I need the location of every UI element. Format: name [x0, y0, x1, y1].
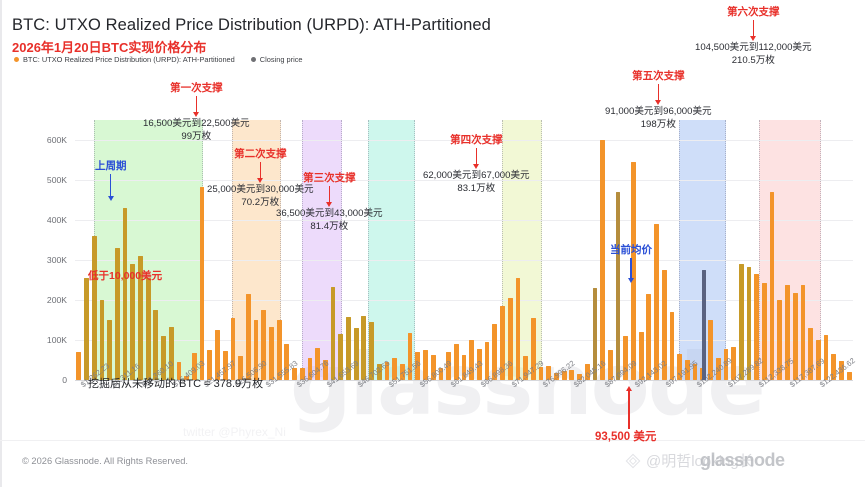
bar [123, 208, 128, 380]
current-avg-label: 当前均价 [598, 242, 664, 257]
grid-line [75, 340, 853, 341]
annotation-body: 36,500美元到43,000美元81.4万枚 [276, 207, 383, 233]
legend-item-closing-price[interactable]: Closing price [251, 55, 303, 64]
footer-divider [0, 440, 865, 441]
bar [361, 316, 366, 380]
annotation-arrow-icon [471, 148, 481, 169]
annotation-title: 第四次支撑 [423, 132, 530, 147]
bar [801, 285, 806, 380]
bar [739, 264, 744, 380]
page-title: BTC: UTXO Realized Price Distribution (U… [12, 16, 491, 35]
annotation-arrow-icon [748, 20, 758, 41]
bar [331, 287, 336, 380]
bar [616, 192, 621, 380]
closing-price-label: 93,500 美元 [595, 428, 656, 444]
below-10k-label: 低于10,000美元 [88, 268, 162, 283]
closing-price-arrow-icon [626, 386, 632, 429]
grid-line [75, 300, 853, 301]
annotation-support-5: 第五次支撑91,000美元到96,000美元198万枚 [605, 68, 712, 131]
annotation-support-6: 第六次支撑104,500美元到112,000美元210.5万枚 [695, 4, 812, 67]
closing-price-marker [702, 270, 706, 380]
never-moved-label: 挖掘后从未移动的 BTC = 378.9万枚 [88, 375, 263, 391]
bar [847, 372, 852, 380]
y-tick-label: 0 [62, 375, 67, 385]
bar [269, 327, 274, 380]
legend-label-closing-price: Closing price [260, 55, 303, 64]
annotation-support-3: 第三次支撑36,500美元到43,000美元81.4万枚 [276, 170, 383, 233]
annotation-title: 第五次支撑 [605, 68, 712, 83]
annotation-body: 62,000美元到67,000美元83.1万枚 [423, 169, 530, 195]
annotation-arrow-icon [653, 84, 663, 105]
y-tick-label: 200K [47, 295, 67, 305]
bar [516, 278, 521, 380]
annotation-title: 第一次支撑 [143, 80, 250, 95]
bar [569, 370, 574, 380]
y-tick-label: 600K [47, 135, 67, 145]
annotation-support-4: 第四次支撑62,000美元到67,000美元83.1万枚 [423, 132, 530, 195]
annotation-title: 上周期 [95, 158, 127, 173]
annotation-body: 16,500美元到22,500美元99万枚 [143, 117, 250, 143]
y-axis: 0100K200K300K400K500K600K [0, 120, 75, 380]
bar [146, 278, 151, 380]
annotation-title: 第三次支撑 [276, 170, 383, 185]
bar [793, 293, 798, 380]
legend-label-urpd: BTC: UTXO Realized Price Distribution (U… [23, 55, 235, 64]
bar [84, 278, 89, 380]
current-avg-arrow-icon [626, 258, 636, 283]
page-subtitle: 2026年1月20日BTC实现价格分布 [12, 37, 206, 56]
annotation-prev-cycle: 上周期 [95, 158, 127, 201]
bar [107, 320, 112, 380]
copyright-text: © 2026 Glassnode. All Rights Reserved. [22, 456, 188, 466]
annotation-body: 104,500美元到112,000美元210.5万枚 [695, 41, 812, 67]
annotation-arrow-icon [324, 186, 334, 207]
bar [670, 312, 675, 380]
bar [92, 236, 97, 380]
orange-dot-icon [14, 57, 19, 62]
current-avg-annotation: 当前均价 [598, 242, 664, 283]
legend-item-urpd[interactable]: BTC: UTXO Realized Price Distribution (U… [14, 55, 235, 64]
annotation-arrow-icon [191, 96, 201, 117]
bar [762, 283, 767, 380]
grey-dot-icon [251, 57, 256, 62]
chart-legend: BTC: UTXO Realized Price Distribution (U… [14, 55, 303, 64]
bar [200, 187, 205, 380]
y-tick-label: 500K [47, 175, 67, 185]
annotation-body: 91,000美元到96,000美元198万枚 [605, 105, 712, 131]
annotation-arrow-icon [106, 174, 116, 201]
x-axis-ticks: $1,262.23$6,311.16$11,360.10$16,409.03$2… [75, 382, 853, 442]
bar [76, 352, 81, 380]
bar [231, 318, 236, 380]
annotation-title: 第六次支撑 [695, 4, 812, 19]
brand-watermark: glassnode [700, 450, 785, 471]
y-tick-label: 100K [47, 335, 67, 345]
grid-line [75, 260, 853, 261]
diamond-icon [625, 453, 641, 469]
annotation-arrow-icon [255, 162, 265, 183]
y-tick-label: 400K [47, 215, 67, 225]
bar [354, 328, 359, 380]
y-tick-label: 300K [47, 255, 67, 265]
bar [169, 327, 174, 380]
grid-line [75, 220, 853, 221]
annotation-support-1: 第一次支撑16,500美元到22,500美元99万枚 [143, 80, 250, 143]
annotation-title: 第二次支撑 [207, 146, 314, 161]
bar [770, 192, 775, 380]
